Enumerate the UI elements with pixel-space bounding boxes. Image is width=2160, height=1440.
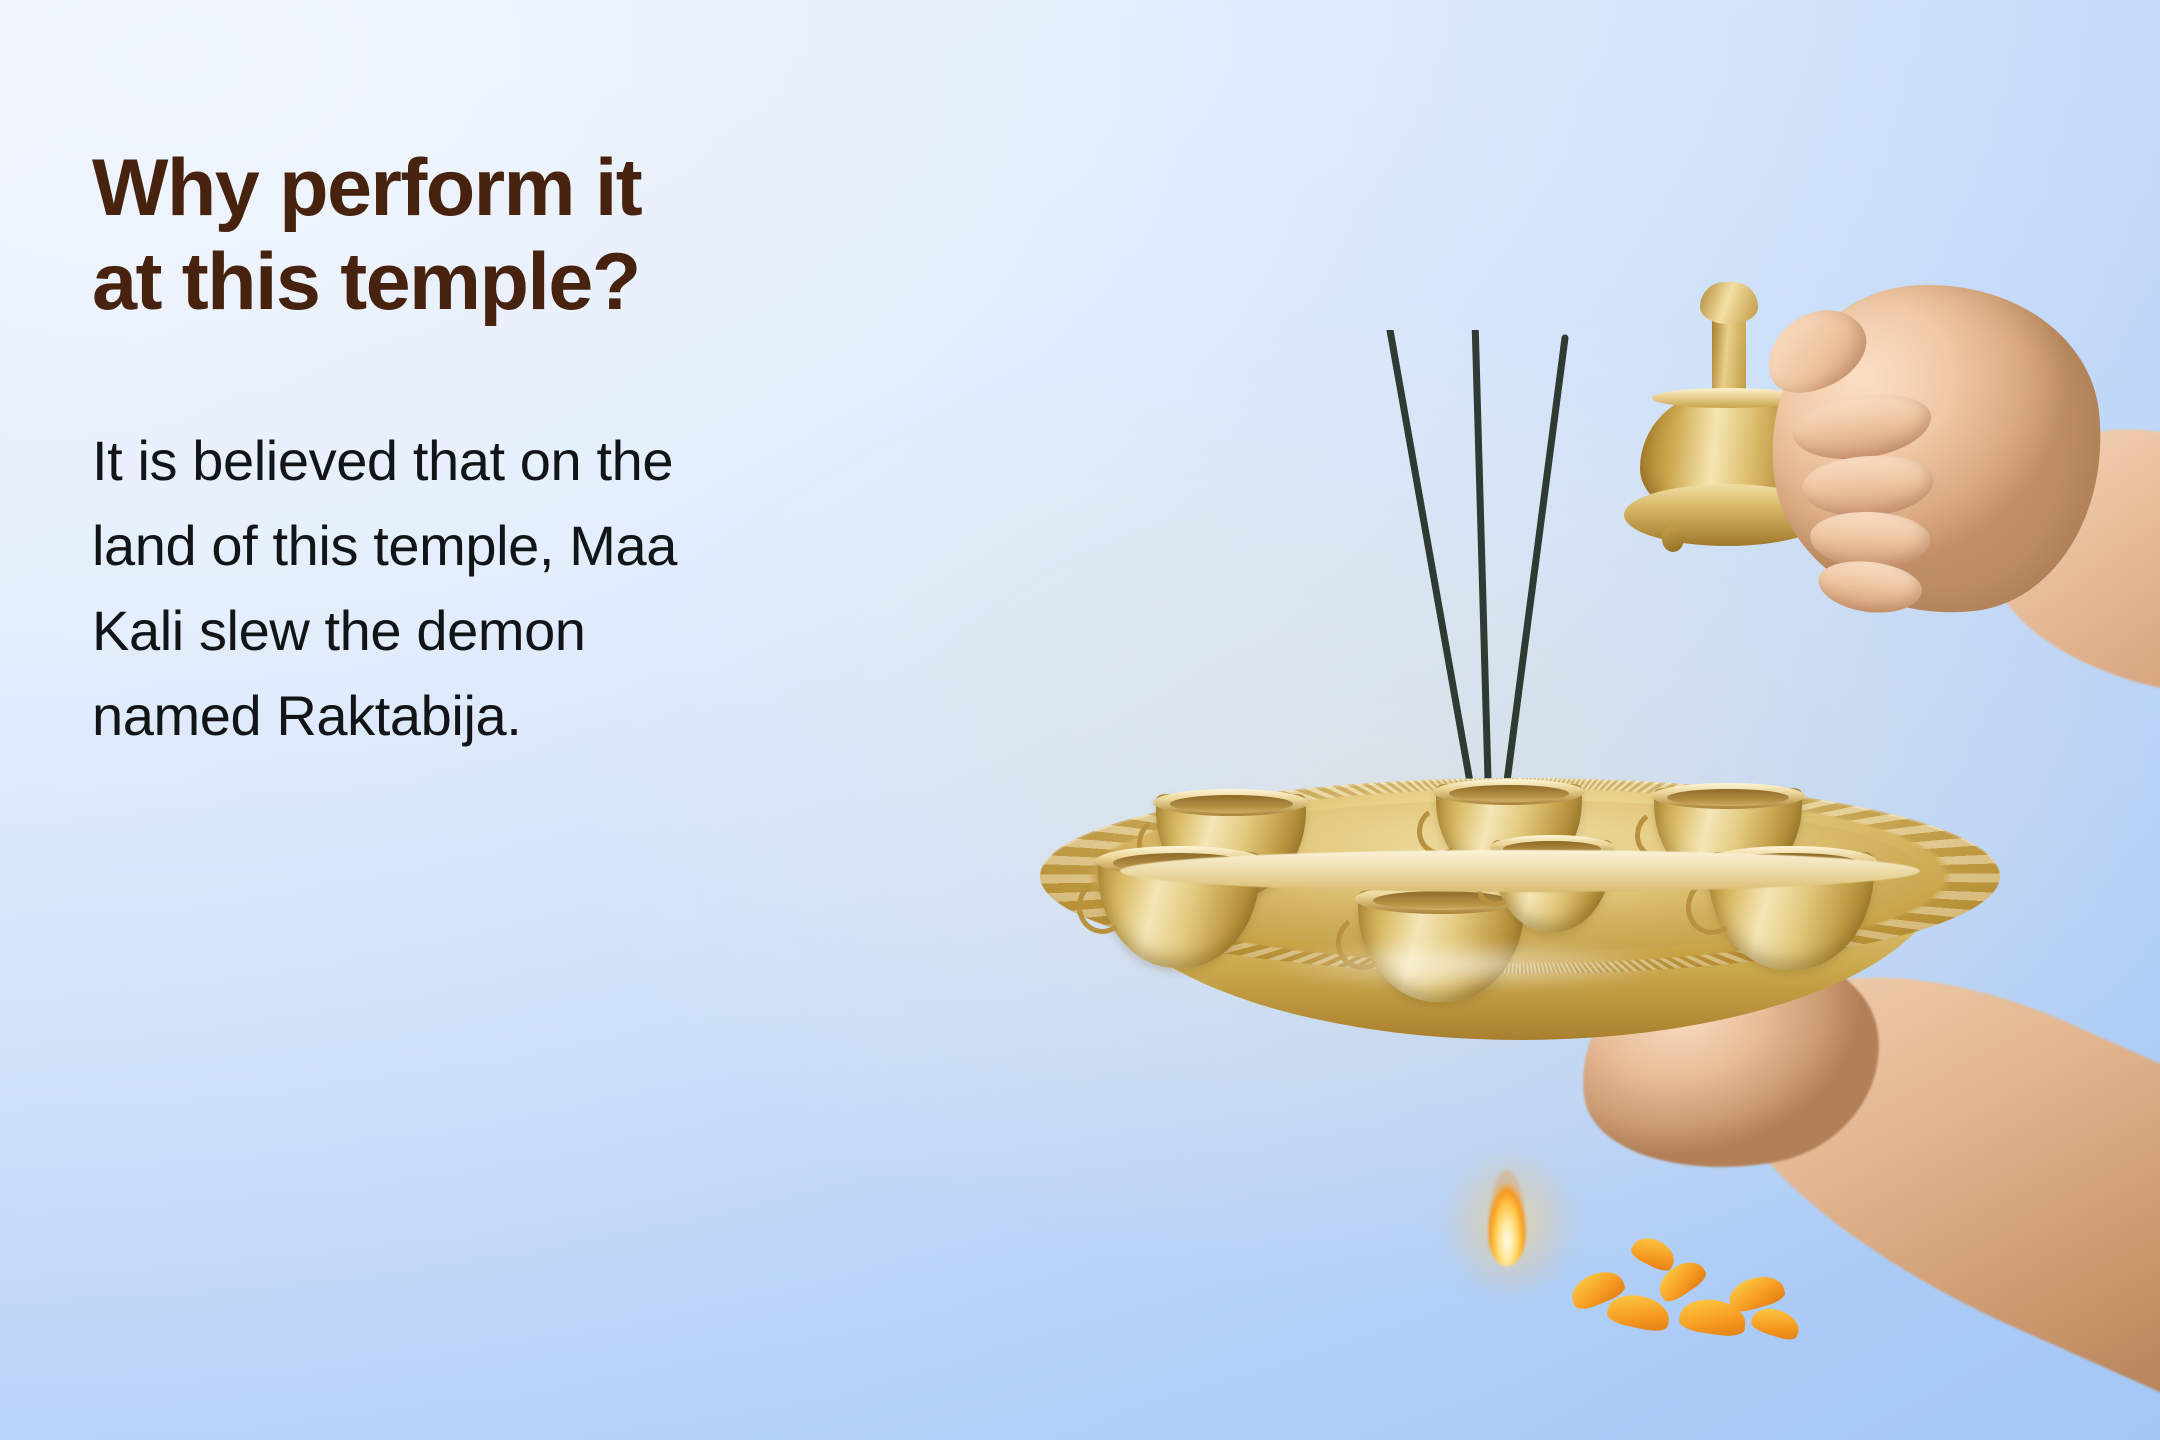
marigold-petals: [1560, 1230, 1820, 1356]
body-paragraph: It is believed that on the land of this …: [92, 418, 982, 758]
bell-and-hand-group: [1596, 270, 2156, 790]
thali-front-lip: [1120, 850, 1920, 892]
bell-clapper: [1662, 526, 1684, 552]
puja-thali: [1040, 778, 2000, 1078]
text-column: Why perform it at this temple? It is bel…: [92, 142, 1052, 758]
thali-highlight: [1190, 928, 1750, 1002]
page-title: Why perform it at this temple?: [92, 142, 1052, 330]
bell-handle-knob: [1700, 282, 1758, 324]
slide-canvas: Why perform it at this temple? It is bel…: [0, 0, 2160, 1440]
puja-photo: [1020, 330, 2160, 1440]
